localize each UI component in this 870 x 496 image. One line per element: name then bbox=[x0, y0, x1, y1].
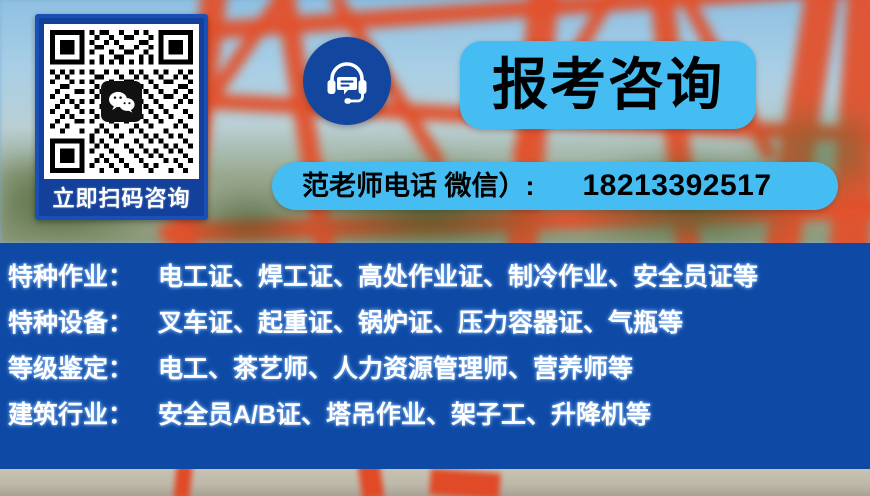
consultation-title-pill[interactable]: 报考咨询 bbox=[460, 41, 756, 129]
category-label: 特种设备： bbox=[8, 311, 158, 336]
category-row-construction-industry: 建筑行业： 安全员A/B证、塔吊作业、架子工、升降机等 bbox=[8, 403, 870, 449]
promo-poster: 立即扫码咨询 报考咨询 范老师电话 微信）: 18213392517 特种作业： bbox=[0, 0, 870, 496]
category-row-special-operations: 特种作业： 电工证、焊工证、高处作业证、制冷作业、安全员证等 bbox=[8, 265, 870, 311]
certificate-categories-panel: 特种作业： 电工证、焊工证、高处作业证、制冷作业、安全员证等 特种设备： 叉车证… bbox=[0, 243, 870, 469]
category-items: 叉车证、起重证、锅炉证、压力容器证、气瓶等 bbox=[158, 311, 683, 336]
contact-phone-label: 范老师电话 微信）: bbox=[302, 173, 535, 200]
category-items: 安全员A/B证、塔吊作业、架子工、升降机等 bbox=[158, 403, 651, 428]
category-label: 等级鉴定： bbox=[8, 357, 158, 382]
wechat-icon bbox=[101, 81, 142, 122]
category-row-grade-appraisal: 等级鉴定： 电工、茶艺师、人力资源管理师、营养师等 bbox=[8, 357, 870, 403]
qr-code-card[interactable]: 立即扫码咨询 bbox=[35, 14, 208, 220]
category-label: 建筑行业： bbox=[8, 403, 158, 428]
category-label: 特种作业： bbox=[8, 265, 158, 290]
contact-phone-pill[interactable]: 范老师电话 微信）: 18213392517 bbox=[272, 162, 838, 210]
headset-support-badge[interactable] bbox=[303, 37, 391, 125]
qr-card-label: 立即扫码咨询 bbox=[52, 188, 190, 210]
qr-code-image[interactable] bbox=[44, 24, 199, 179]
bottom-photo-strip bbox=[0, 469, 870, 496]
category-items: 电工、茶艺师、人力资源管理师、营养师等 bbox=[158, 357, 633, 382]
category-items: 电工证、焊工证、高处作业证、制冷作业、安全员证等 bbox=[158, 265, 758, 290]
headset-support-icon bbox=[321, 55, 373, 107]
category-row-special-equipment: 特种设备： 叉车证、起重证、锅炉证、压力容器证、气瓶等 bbox=[8, 311, 870, 357]
consultation-title-label: 报考咨询 bbox=[492, 57, 724, 113]
contact-phone-number[interactable]: 18213392517 bbox=[583, 171, 772, 201]
